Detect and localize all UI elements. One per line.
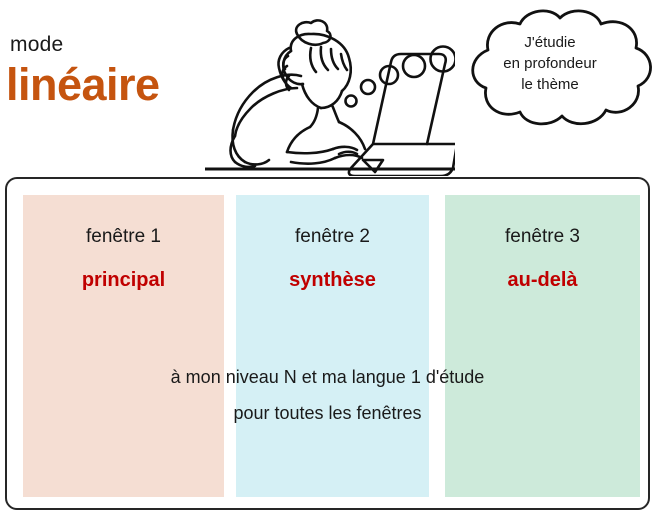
thought-bubble-text: J'étudie en profondeur le thème xyxy=(484,32,616,95)
bubble-line-1: J'étudie xyxy=(484,32,616,53)
window-3-label: fenêtre 3 xyxy=(445,226,640,248)
window-column-1[interactable]: fenêtre 1 principal xyxy=(23,195,224,497)
window-3-value: au-delà xyxy=(445,269,640,292)
window-1-label: fenêtre 1 xyxy=(23,226,224,248)
student-at-laptop-icon xyxy=(205,4,455,176)
windows-panel: fenêtre 1 principal fenêtre 2 synthèse f… xyxy=(5,177,650,510)
mode-label: mode xyxy=(10,33,63,57)
bubble-line-2: en profondeur xyxy=(484,53,616,74)
thought-bubble: J'étudie en profondeur le thème xyxy=(440,4,659,139)
window-2-label: fenêtre 2 xyxy=(236,226,429,248)
window-column-3[interactable]: fenêtre 3 au-delà xyxy=(445,195,640,497)
window-1-value: principal xyxy=(23,269,224,292)
window-column-2[interactable]: fenêtre 2 synthèse xyxy=(236,195,429,497)
bubble-line-3: le thème xyxy=(484,74,616,95)
window-2-value: synthèse xyxy=(236,269,429,292)
mode-title: linéaire xyxy=(6,59,160,111)
